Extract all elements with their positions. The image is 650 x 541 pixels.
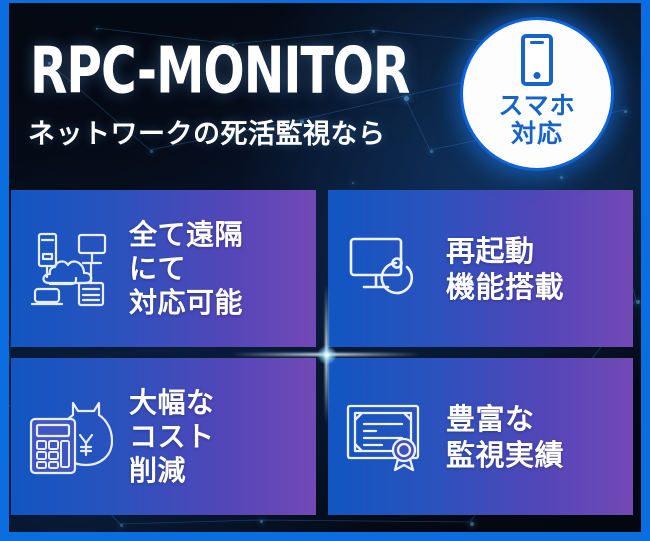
badge-line-2: 対応 (498, 120, 575, 148)
badge-line-1: スマホ (498, 92, 575, 120)
feature-panel-remote: 全て遠隔 にて 対応可能 (11, 190, 316, 347)
feature-text: 豊富な 監視実績 (446, 401, 564, 473)
feature-panel-restart: 再起動 機能搭載 (328, 190, 633, 347)
calculator-moneybag-icon (11, 397, 129, 477)
center-glow-dot (317, 345, 337, 365)
frame-left (0, 0, 9, 541)
certificate-award-icon (328, 402, 446, 472)
feature-panel-record: 豊富な 監視実績 (328, 358, 633, 515)
badge-label: スマホ 対応 (498, 92, 575, 148)
frame-top (0, 0, 650, 3)
page-title: RPC-MONITOR (30, 38, 409, 104)
rpc-monitor-banner: RPC-MONITOR ネットワークの死活監視なら スマホ 対応 (0, 0, 650, 541)
smartphone-icon (521, 34, 553, 86)
monitor-restart-icon (328, 234, 446, 304)
frame-bottom (0, 532, 650, 541)
feature-panel-cost: 大幅な コスト 削減 (11, 358, 316, 515)
frame-right (641, 0, 650, 541)
tagline: ネットワークの死活監視なら (28, 120, 386, 150)
smartphone-support-badge: スマホ 対応 (460, 17, 614, 171)
feature-text: 再起動 機能搭載 (446, 233, 564, 305)
cloud-network-icon (11, 229, 129, 309)
feature-text: 大幅な コスト 削減 (129, 386, 215, 488)
feature-text: 全て遠隔 にて 対応可能 (129, 218, 243, 320)
